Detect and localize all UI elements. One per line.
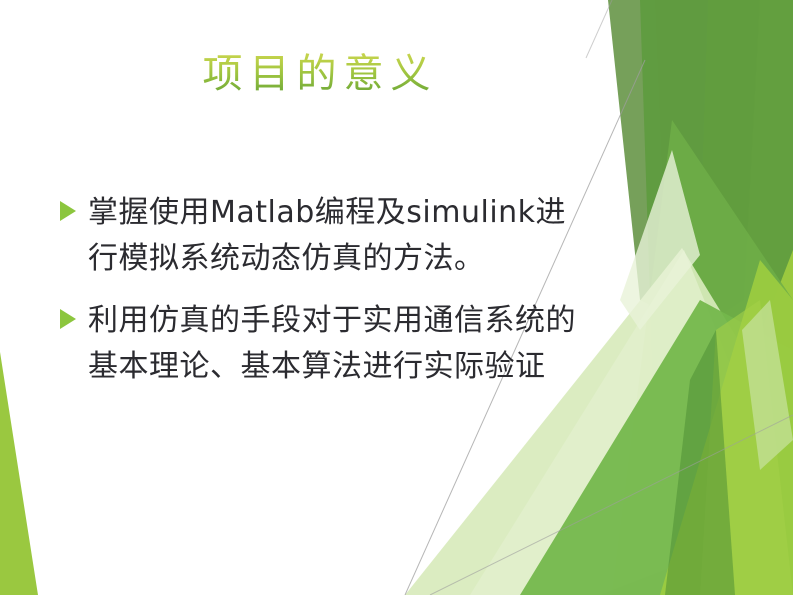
deco-shape-light-highlight	[742, 300, 793, 470]
deco-shape-top-muted-wide	[655, 0, 712, 330]
deco-shape-converging-wedge	[612, 120, 793, 595]
title-container: 项目的意义	[0, 52, 640, 97]
deco-shape-top-mid-green	[697, 0, 760, 330]
deco-shape-top-muted	[608, 0, 700, 330]
deco-shape-deep-green-triangle	[640, 0, 793, 595]
bullet-list: 掌握使用Matlab编程及simulink进行模拟系统动态仿真的方法。 利用仿真…	[58, 190, 578, 406]
list-item-label: 掌握使用Matlab编程及simulink进行模拟系统动态仿真的方法。	[88, 195, 566, 276]
list-item: 利用仿真的手段对于实用通信系统的基本理论、基本算法进行实际验证	[58, 298, 578, 390]
deco-shape-bright-sliver	[700, 300, 793, 595]
list-item-label: 利用仿真的手段对于实用通信系统的基本理论、基本算法进行实际验证	[88, 303, 576, 384]
slide-canvas: 项目的意义 掌握使用Matlab编程及simulink进行模拟系统动态仿真的方法…	[0, 0, 793, 595]
hairline-diagonal-lower	[430, 415, 793, 595]
triangle-right-icon	[60, 309, 76, 329]
triangle-right-icon	[60, 201, 76, 221]
deco-shape-far-right-bright	[700, 0, 793, 595]
deco-shape-dark-accent-sliver	[665, 330, 735, 595]
hairline-top-edge	[586, 0, 612, 58]
list-item: 掌握使用Matlab编程及simulink进行模拟系统动态仿真的方法。	[58, 190, 578, 282]
deco-shape-bottom-right-bright	[660, 260, 793, 595]
bottom-left-wedge-shape	[0, 352, 38, 595]
page-title: 项目的意义	[203, 52, 438, 97]
deco-shape-pale-upper	[620, 150, 700, 330]
